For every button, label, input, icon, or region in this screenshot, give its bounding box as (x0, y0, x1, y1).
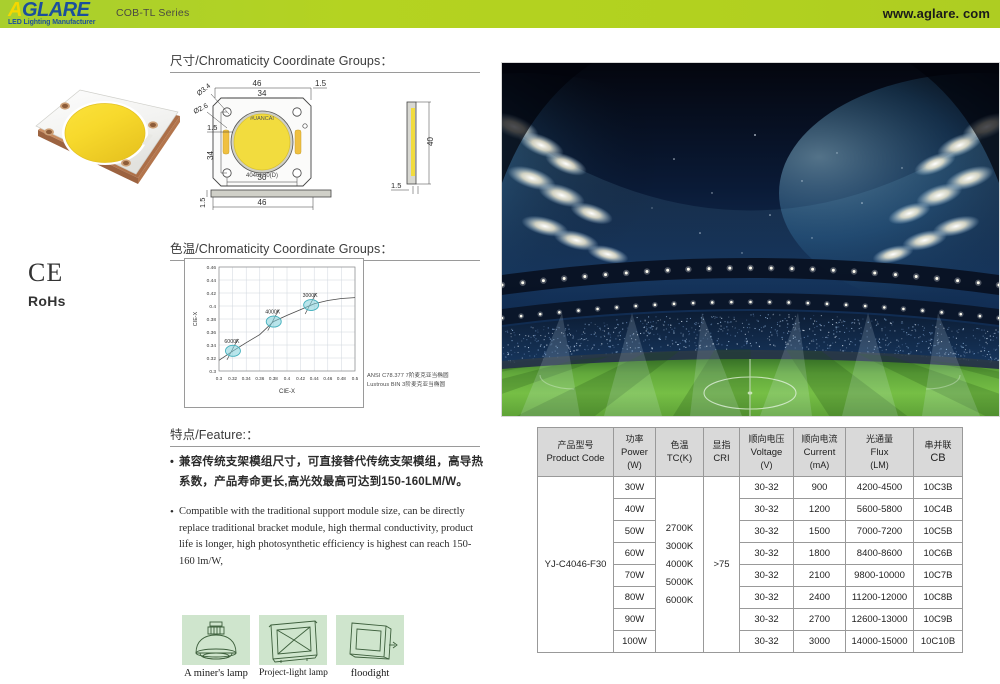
cell-power: 50W (614, 521, 656, 543)
cell-product-code: YJ-C4046-F30 (538, 477, 614, 653)
y-axis-tick: 0.38 (207, 317, 217, 323)
cell-cb: 10C10B (914, 631, 963, 653)
cell-color-temps: 2700K3000K4000K5000K6000K (656, 477, 704, 653)
color-temp-value: 5000K (656, 574, 703, 592)
bullet-icon: • (170, 452, 179, 472)
application-label-2: Project-light lamp (259, 668, 327, 678)
application-label-3: floodight (336, 668, 404, 679)
cell-power: 70W (614, 565, 656, 587)
dimensions-section-header: 尺寸/Chromaticity Coordinate Groups： (170, 50, 480, 73)
floodlight-icon (336, 615, 404, 665)
cell-cb: 10C8B (914, 587, 963, 609)
features-rule (170, 446, 480, 447)
cell-current: 2700 (794, 609, 846, 631)
stadium-hero-image (501, 62, 1000, 417)
cell-current: 900 (794, 477, 846, 499)
header-power: 功率 Power (W) (614, 428, 656, 477)
cell-cb: 10C9B (914, 609, 963, 631)
application-icons: A miner's lamp Project-light lamp (182, 615, 404, 679)
cell-flux: 7000-7200 (846, 521, 914, 543)
features-section-header: 特点/Feature:： (170, 424, 480, 447)
certification-marks: CE RoHs (28, 260, 66, 309)
brand-stamp: #UANCAI (250, 116, 274, 122)
header-product-code: 产品型号 Product Code (538, 428, 614, 477)
cct-label: 3000K (303, 293, 319, 299)
project-light-lamp-icon (259, 615, 327, 665)
cell-cb: 10C5B (914, 521, 963, 543)
cell-power: 60W (614, 543, 656, 565)
specification-table-wrapper: 产品型号 Product Code 功率 Power (W) 色温 TC(K) … (537, 427, 962, 653)
dimensions-title: 尺寸/Chromaticity Coordinate Groups： (170, 50, 480, 72)
header-divider (0, 28, 1000, 31)
cell-voltage: 30-32 (740, 521, 794, 543)
cell-flux: 8400-8600 (846, 543, 914, 565)
cell-flux: 5600-5800 (846, 499, 914, 521)
header-cri: 显指 CRI (704, 428, 740, 477)
cell-voltage: 30-32 (740, 609, 794, 631)
dim-hole-26: Ø2.6 (193, 102, 209, 115)
cell-current: 2100 (794, 565, 846, 587)
y-axis-tick: 0.42 (207, 291, 217, 297)
chromaticity-chart: 0.30.320.340.360.380.40.420.440.460.480.… (184, 258, 364, 408)
x-axis-tick: 0.4 (284, 376, 291, 381)
color-temp-value: 2700K (656, 520, 703, 538)
dim-side-15: 1.5 (391, 181, 401, 190)
cell-current: 1200 (794, 499, 846, 521)
cell-power: 40W (614, 499, 656, 521)
dim-top-46: 46 (253, 79, 262, 88)
part-number-label: 4046F30(D) (246, 173, 278, 179)
dimensions-rule (170, 72, 480, 73)
color-temp-value: 6000K (656, 592, 703, 610)
cell-flux: 9800-10000 (846, 565, 914, 587)
logo-wordmark: AGLARE (8, 1, 113, 20)
cct-point-3000K: 3000K (303, 293, 319, 314)
x-axis-tick: 0.38 (269, 376, 278, 381)
dim-bottom-15: 1.5 (198, 198, 207, 208)
application-label-1: A miner's lamp (182, 668, 250, 679)
cell-current: 3000 (794, 631, 846, 653)
cell-flux: 14000-15000 (846, 631, 914, 653)
chart-note-line-1: ANSI C78.377 7阶麦克亚当椭圆 (367, 372, 487, 381)
cct-point-6000K: 6000K (224, 339, 240, 360)
x-axis-tick: 0.3 (216, 376, 223, 381)
aglare-logo: AGLARE LED Lighting Manufacturer (8, 1, 113, 27)
cct-label: 6000K (224, 339, 240, 345)
x-axis-tick: 0.44 (310, 376, 319, 381)
y-axis-tick: 0.3 (209, 369, 216, 375)
cell-cb: 10C7B (914, 565, 963, 587)
dim-hole-34: Ø3.4 (196, 83, 212, 98)
y-axis-tick: 0.4 (209, 304, 216, 310)
x-axis-tick: 0.32 (228, 376, 237, 381)
dim-left-34: 34 (206, 151, 215, 160)
chart-note-block: ANSI C78.377 7阶麦克亚当椭圆 Lustrous BIN 3阶麦克亚… (367, 372, 487, 390)
miners-lamp-icon (182, 615, 250, 665)
ce-mark-icon: CE (28, 260, 66, 286)
feature-en-text: Compatible with the traditional support … (179, 504, 479, 570)
dim-top-34: 34 (258, 89, 267, 98)
header-cb: 串并联 CB (914, 428, 963, 477)
cell-flux: 12600-13000 (846, 609, 914, 631)
cell-current: 1500 (794, 521, 846, 543)
x-axis-tick: 0.42 (296, 376, 305, 381)
y-axis-tick: 0.44 (207, 278, 217, 284)
dim-top-15: 1.5 (315, 79, 327, 88)
y-axis-tick: 0.36 (207, 330, 217, 336)
dim-bottom-46: 46 (258, 198, 267, 207)
x-axis-tick: 0.36 (255, 376, 264, 381)
x-axis-tick: 0.34 (242, 376, 251, 381)
feature-cn-line2: 系数，产品寿命更长,高光效最高可达到150-160LM/W。 (170, 472, 490, 492)
cell-power: 30W (614, 477, 656, 499)
y-axis-tick: 0.32 (207, 356, 217, 362)
table-header-row: 产品型号 Product Code 功率 Power (W) 色温 TC(K) … (538, 428, 963, 477)
x-axis-label: CIE-X (279, 389, 295, 395)
header-flux: 光通量 Flux (LM) (846, 428, 914, 477)
dim-side-40: 40 (426, 137, 435, 146)
cell-voltage: 30-32 (740, 477, 794, 499)
cell-voltage: 30-32 (740, 587, 794, 609)
feature-english: •Compatible with the traditional support… (170, 504, 490, 570)
cell-cb: 10C6B (914, 543, 963, 565)
cell-voltage: 30-32 (740, 565, 794, 587)
application-miners-lamp[interactable]: A miner's lamp (182, 615, 250, 679)
y-axis-tick: 0.34 (207, 343, 217, 349)
cct-label: 4000K (265, 310, 281, 316)
chart-note-line-2: Lustrous BIN 3阶麦克亚当椭圆 (367, 381, 487, 390)
features-list: •兼容传统支架模组尺寸，可直接替代传统支架模组，高导热 系数，产品寿命更长,高光… (170, 452, 490, 570)
cell-power: 100W (614, 631, 656, 653)
cell-power: 90W (614, 609, 656, 631)
cob-led-product-photo (22, 78, 192, 203)
application-project-light-lamp[interactable]: Project-light lamp (259, 615, 327, 679)
x-axis-tick: 0.46 (323, 376, 332, 381)
x-axis-tick: 0.48 (337, 376, 346, 381)
cell-cb: 10C4B (914, 499, 963, 521)
feature-cn-line1: 兼容传统支架模组尺寸，可直接替代传统支架模组，高导热 (179, 456, 483, 468)
website-url[interactable]: www.aglare. com (883, 6, 990, 21)
header-voltage: 顺向电压 Voltage (V) (740, 428, 794, 477)
dim-left-15: 1.5 (207, 123, 217, 132)
cell-current: 2400 (794, 587, 846, 609)
table-row: YJ-C4046-F3030W2700K3000K4000K5000K6000K… (538, 477, 963, 499)
color-temp-value: 3000K (656, 538, 703, 556)
feature-chinese: •兼容传统支架模组尺寸，可直接替代传统支架模组，高导热 系数，产品寿命更长,高光… (170, 452, 490, 492)
cell-flux: 4200-4500 (846, 477, 914, 499)
cell-cb: 10C3B (914, 477, 963, 499)
rohs-label: RoHs (28, 293, 66, 309)
page-header: AGLARE LED Lighting Manufacturer COB-TL … (0, 0, 1000, 28)
y-axis-label: CIE-X (193, 311, 199, 326)
header-current: 顺向电流 Current (mA) (794, 428, 846, 477)
cell-current: 1800 (794, 543, 846, 565)
cell-cri: >75 (704, 477, 740, 653)
y-axis-tick: 0.46 (207, 265, 217, 271)
x-axis-tick: 0.5 (352, 376, 359, 381)
header-color-temp: 色温 TC(K) (656, 428, 704, 477)
cell-voltage: 30-32 (740, 631, 794, 653)
chromaticity-title: 色温/Chromaticity Coordinate Groups： (170, 238, 480, 260)
color-temp-value: 4000K (656, 556, 703, 574)
series-name: COB-TL Series (116, 7, 189, 19)
dimension-drawing: 46 34 1.5 Ø3.4 Ø2.6 1.5 34 30 46 1.5 40 … (193, 74, 483, 224)
features-title: 特点/Feature:： (170, 424, 480, 446)
cell-power: 80W (614, 587, 656, 609)
application-floodlight[interactable]: floodight (336, 615, 404, 679)
cell-voltage: 30-32 (740, 499, 794, 521)
logo-text: GLARE (22, 0, 90, 21)
cell-voltage: 30-32 (740, 543, 794, 565)
specification-table: 产品型号 Product Code 功率 Power (W) 色温 TC(K) … (537, 427, 963, 653)
bullet-icon-2: • (170, 504, 179, 521)
cell-flux: 11200-12000 (846, 587, 914, 609)
